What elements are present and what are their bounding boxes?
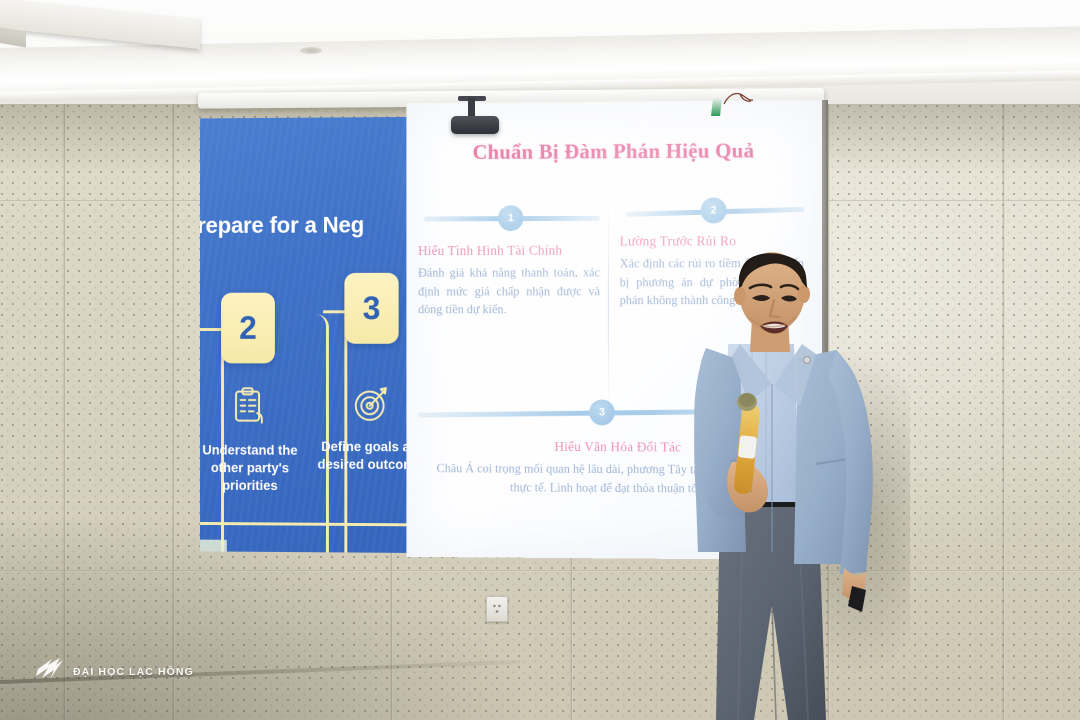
blue-slide-heading: Prepare for a Neg [200,212,364,239]
watermark: ĐẠI HỌC LẠC HỒNG [34,656,194,687]
wall-outlet-icon [486,596,508,622]
ceiling-projector-icon [451,100,499,134]
column-divider [608,197,609,409]
blue-card-3-number: 3 [344,273,398,344]
step-connector-row: 1 2 [424,204,804,206]
blue-slide-swatch [200,540,227,553]
slide-title: Chuẩn Bị Đàm Phán Hiệu Quả [406,138,822,165]
blue-card-2-caption: Understand the other party's priorities [200,442,306,496]
step-2-heading: Lường Trước Rủi Ro [620,233,804,249]
cable-tag-icon [712,90,756,116]
presenter [676,252,906,720]
blue-card-3-caption: Define goals and desired outcomes [317,438,408,474]
step-2-connector: 2 [626,204,804,231]
bird-logo-icon [34,656,66,687]
step-1-badge: 1 [498,205,523,231]
clipboard-checklist-icon [227,385,271,430]
step-2-badge: 2 [701,197,727,223]
step-1-column: Hiểu Tình Hình Tài Chính Đánh giá khả nă… [418,243,600,319]
step-3-badge: 3 [589,399,615,425]
watermark-text: ĐẠI HỌC LẠC HỒNG [73,666,194,678]
slide-previous-blue: Prepare for a Neg 2 Understand the other… [200,117,408,553]
target-dart-icon [350,381,395,426]
blue-card-2-number: 2 [221,293,275,364]
ceiling-tile [0,0,200,49]
screenshot-root: Prepare for a Neg 2 Understand the other… [0,0,1080,720]
ceiling-light-fixture-icon [300,47,322,54]
wall-seam [1002,104,1005,720]
step-1-connector: 1 [424,205,600,231]
step-1-body: Đánh giá khả năng thanh toán, xác định m… [418,263,600,318]
step-1-heading: Hiểu Tình Hình Tài Chính [418,243,600,259]
